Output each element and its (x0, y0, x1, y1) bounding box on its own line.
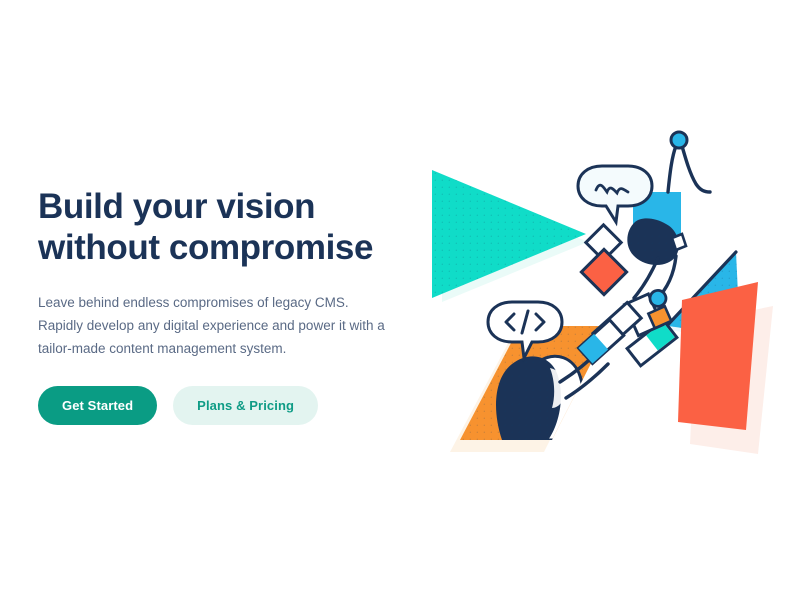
plans-and-pricing-button[interactable]: Plans & Pricing (173, 386, 318, 425)
page-title: Build your vision without compromise (38, 186, 398, 269)
headline-line-2: without compromise (38, 227, 398, 268)
headline-line-1: Build your vision (38, 186, 398, 227)
hero-section: Build your vision without compromise Lea… (0, 0, 800, 600)
cta-button-row: Get Started Plans & Pricing (38, 386, 398, 425)
get-started-button[interactable]: Get Started (38, 386, 157, 425)
teal-triangle (432, 170, 586, 298)
hero-illustration (420, 130, 790, 470)
orange-red-diamond (581, 249, 626, 294)
orange-red-triangle (678, 282, 758, 430)
top-figure-head-cap (671, 132, 687, 148)
hero-subcopy: Leave behind endless compromises of lega… (38, 291, 386, 361)
person-top-right (627, 132, 710, 300)
hero-copy-column: Build your vision without compromise Lea… (38, 186, 398, 425)
